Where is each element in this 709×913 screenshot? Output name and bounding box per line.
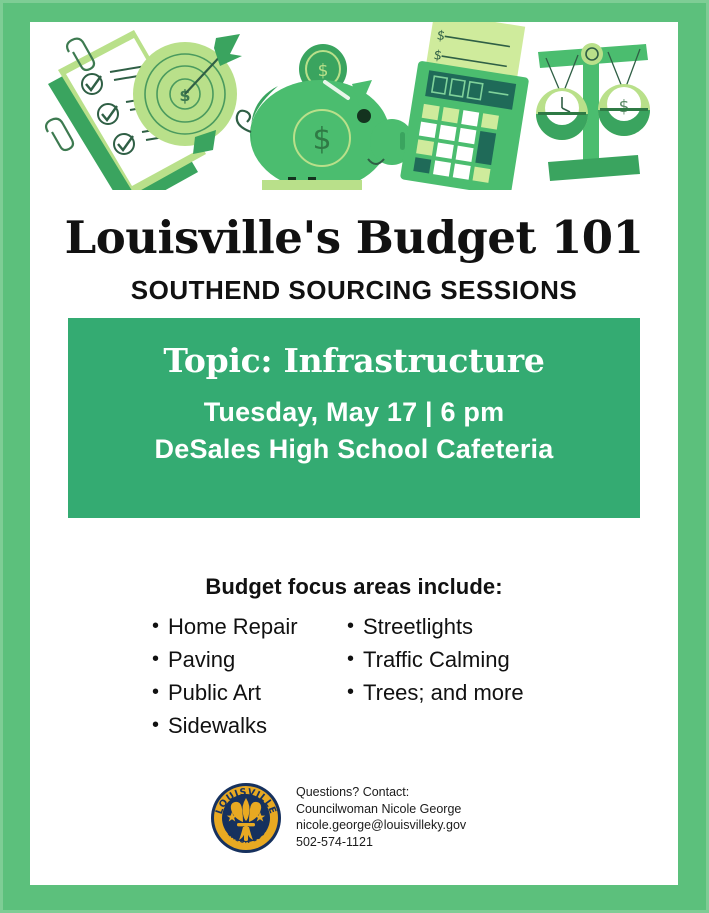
event-details-banner: Topic: Infrastructure Tuesday, May 17 | … <box>68 318 640 518</box>
contact-line-phone[interactable]: 502-574-1121 <box>296 834 466 851</box>
flyer-subtitle: SOUTHEND SOURCING SESSIONS <box>30 277 678 303</box>
calculator-with-receipt-icon: $ $ <box>400 22 537 190</box>
footer-contact-block: LOUISVILLE JEFFERSON COUNTY <box>210 780 630 854</box>
list-item: Sidewalks <box>150 709 345 742</box>
focus-areas-column-right: Streetlights Traffic Calming Trees; and … <box>345 610 560 709</box>
list-item: Home Repair <box>150 610 345 643</box>
svg-text:$: $ <box>318 61 329 81</box>
event-venue: DeSales High School Cafeteria <box>68 431 640 468</box>
list-item: Streetlights <box>345 610 560 643</box>
flyer-page: $ $ <box>0 0 709 913</box>
contact-line-name: Councilwoman Nicole George <box>296 801 466 818</box>
list-item: Public Art <box>150 676 345 709</box>
focus-areas-column-left: Home Repair Paving Public Art Sidewalks <box>150 610 345 742</box>
hero-illustration: $ $ <box>30 22 678 190</box>
contact-line-question: Questions? Contact: <box>296 784 466 801</box>
flyer-content-panel: $ $ <box>30 22 678 885</box>
balance-scale-icon: $ <box>536 43 650 181</box>
list-item: Trees; and more <box>345 676 560 709</box>
contact-line-email[interactable]: nicole.george@louisvilleky.gov <box>296 817 466 834</box>
piggy-bank-icon: $ <box>237 80 414 190</box>
svg-text:$: $ <box>312 122 331 157</box>
focus-areas-list: Home Repair Paving Public Art Sidewalks … <box>150 610 580 742</box>
svg-text:$: $ <box>619 97 630 117</box>
list-item: Paving <box>150 643 345 676</box>
flyer-title: Louisville's Budget 101 <box>30 215 678 260</box>
contact-info: Questions? Contact: Councilwoman Nicole … <box>296 780 466 850</box>
louisville-jefferson-county-seal-icon: LOUISVILLE JEFFERSON COUNTY <box>210 782 282 854</box>
event-date-time: Tuesday, May 17 | 6 pm <box>68 394 640 431</box>
list-item: Traffic Calming <box>345 643 560 676</box>
event-topic: Topic: Infrastructure <box>68 342 640 380</box>
focus-areas-heading: Budget focus areas include: <box>30 574 678 600</box>
